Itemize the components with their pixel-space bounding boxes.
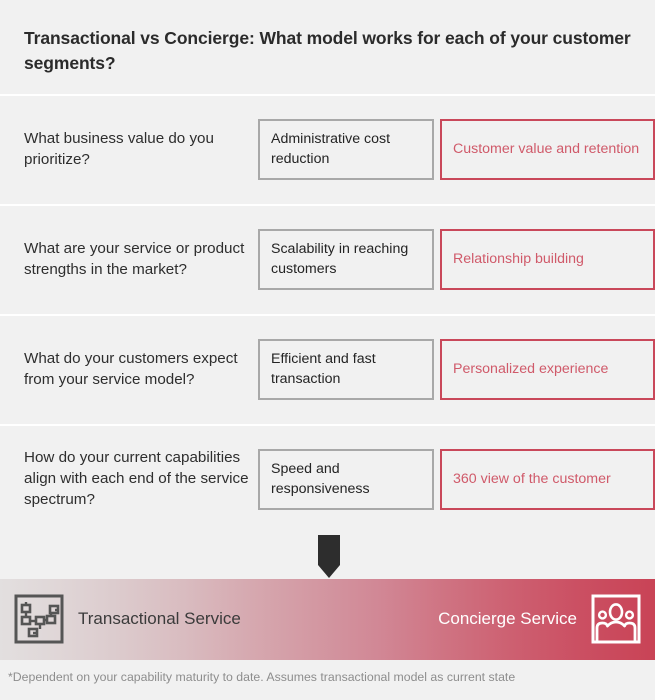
transactional-card[interactable]: Scalability in reaching customers [258,229,434,290]
comparison-rows: What business value do you prioritize? A… [0,96,655,534]
row-question: What are your service or product strengt… [0,239,258,281]
footnote: *Dependent on your capability maturity t… [8,670,515,686]
concierge-service-label: Concierge Service [438,608,577,630]
transactional-card[interactable]: Administrative cost reduction [258,119,434,180]
infographic-page: Transactional vs Concierge: What model w… [0,0,655,700]
table-row: How do your current capabilities align w… [0,426,655,534]
down-arrow-marker-icon [318,535,340,579]
row-question: What business value do you prioritize? [0,129,258,171]
network-nodes-icon [14,594,64,644]
page-title: Transactional vs Concierge: What model w… [24,26,631,76]
row-cards: Speed and responsiveness 360 view of the… [258,449,655,510]
spectrum-left: Transactional Service [14,594,241,644]
row-question: What do your customers expect from your … [0,349,258,391]
table-row: What are your service or product strengt… [0,206,655,314]
row-cards: Scalability in reaching customers Relati… [258,229,655,290]
concierge-card[interactable]: Customer value and retention [440,119,655,180]
header: Transactional vs Concierge: What model w… [0,0,655,76]
arrow-zone [0,534,655,579]
transactional-card[interactable]: Speed and responsiveness [258,449,434,510]
table-row: What business value do you prioritize? A… [0,96,655,204]
row-cards: Administrative cost reduction Customer v… [258,119,655,180]
concierge-card[interactable]: Personalized experience [440,339,655,400]
transactional-card[interactable]: Efficient and fast transaction [258,339,434,400]
people-group-icon [591,594,641,644]
transactional-service-label: Transactional Service [78,608,241,630]
concierge-card[interactable]: Relationship building [440,229,655,290]
concierge-card[interactable]: 360 view of the customer [440,449,655,510]
arrow-tip [318,565,340,578]
row-question: How do your current capabilities align w… [0,448,258,511]
arrow-stem [318,535,340,565]
table-row: What do your customers expect from your … [0,316,655,424]
row-cards: Efficient and fast transaction Personali… [258,339,655,400]
service-spectrum-bar: Transactional Service Concierge Service [0,579,655,660]
spectrum-right: Concierge Service [438,594,641,644]
